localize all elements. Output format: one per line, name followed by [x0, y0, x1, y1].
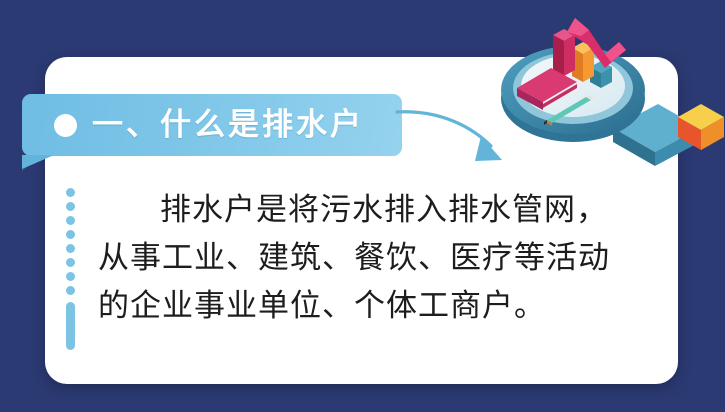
- section-banner-body: 一、什么是排水户: [22, 94, 402, 156]
- section-banner[interactable]: 一、什么是排水户: [22, 94, 402, 156]
- rail-dot: [66, 272, 75, 281]
- body-line-3: 的企业事业单位、个体工商户。: [98, 282, 638, 330]
- curved-arrow-icon: [395, 98, 525, 178]
- dotted-rail: [65, 188, 79, 338]
- rail-dot: [66, 244, 75, 253]
- body-paragraph: 排水户是将污水排入排水管网， 从事工业、建筑、餐饮、医疗等活动 的企业事业单位、…: [98, 186, 638, 330]
- rail-dot: [66, 188, 75, 197]
- ribbon-fold: [22, 155, 54, 169]
- rail-dot: [66, 230, 75, 239]
- rail-dot: [66, 202, 75, 211]
- bar-pink: [553, 29, 575, 76]
- rail-dot: [66, 216, 75, 225]
- rail-bar: [66, 302, 75, 350]
- body-line-1: 排水户是将污水排入排水管网，: [98, 186, 638, 234]
- rail-dot: [66, 258, 75, 267]
- bullet-dot-icon: [54, 114, 77, 137]
- rail-dot: [66, 286, 75, 295]
- section-banner-title: 一、什么是排水户: [92, 110, 364, 141]
- body-line-2: 从事工业、建筑、餐饮、医疗等活动: [98, 234, 638, 282]
- magnifying-glass-with-charts-illustration: [495, 10, 725, 200]
- infographic-stage: 一、什么是排水户 排水户是将污水排入排水管网， 从事工业、建筑、餐饮、医疗等活动…: [0, 0, 725, 412]
